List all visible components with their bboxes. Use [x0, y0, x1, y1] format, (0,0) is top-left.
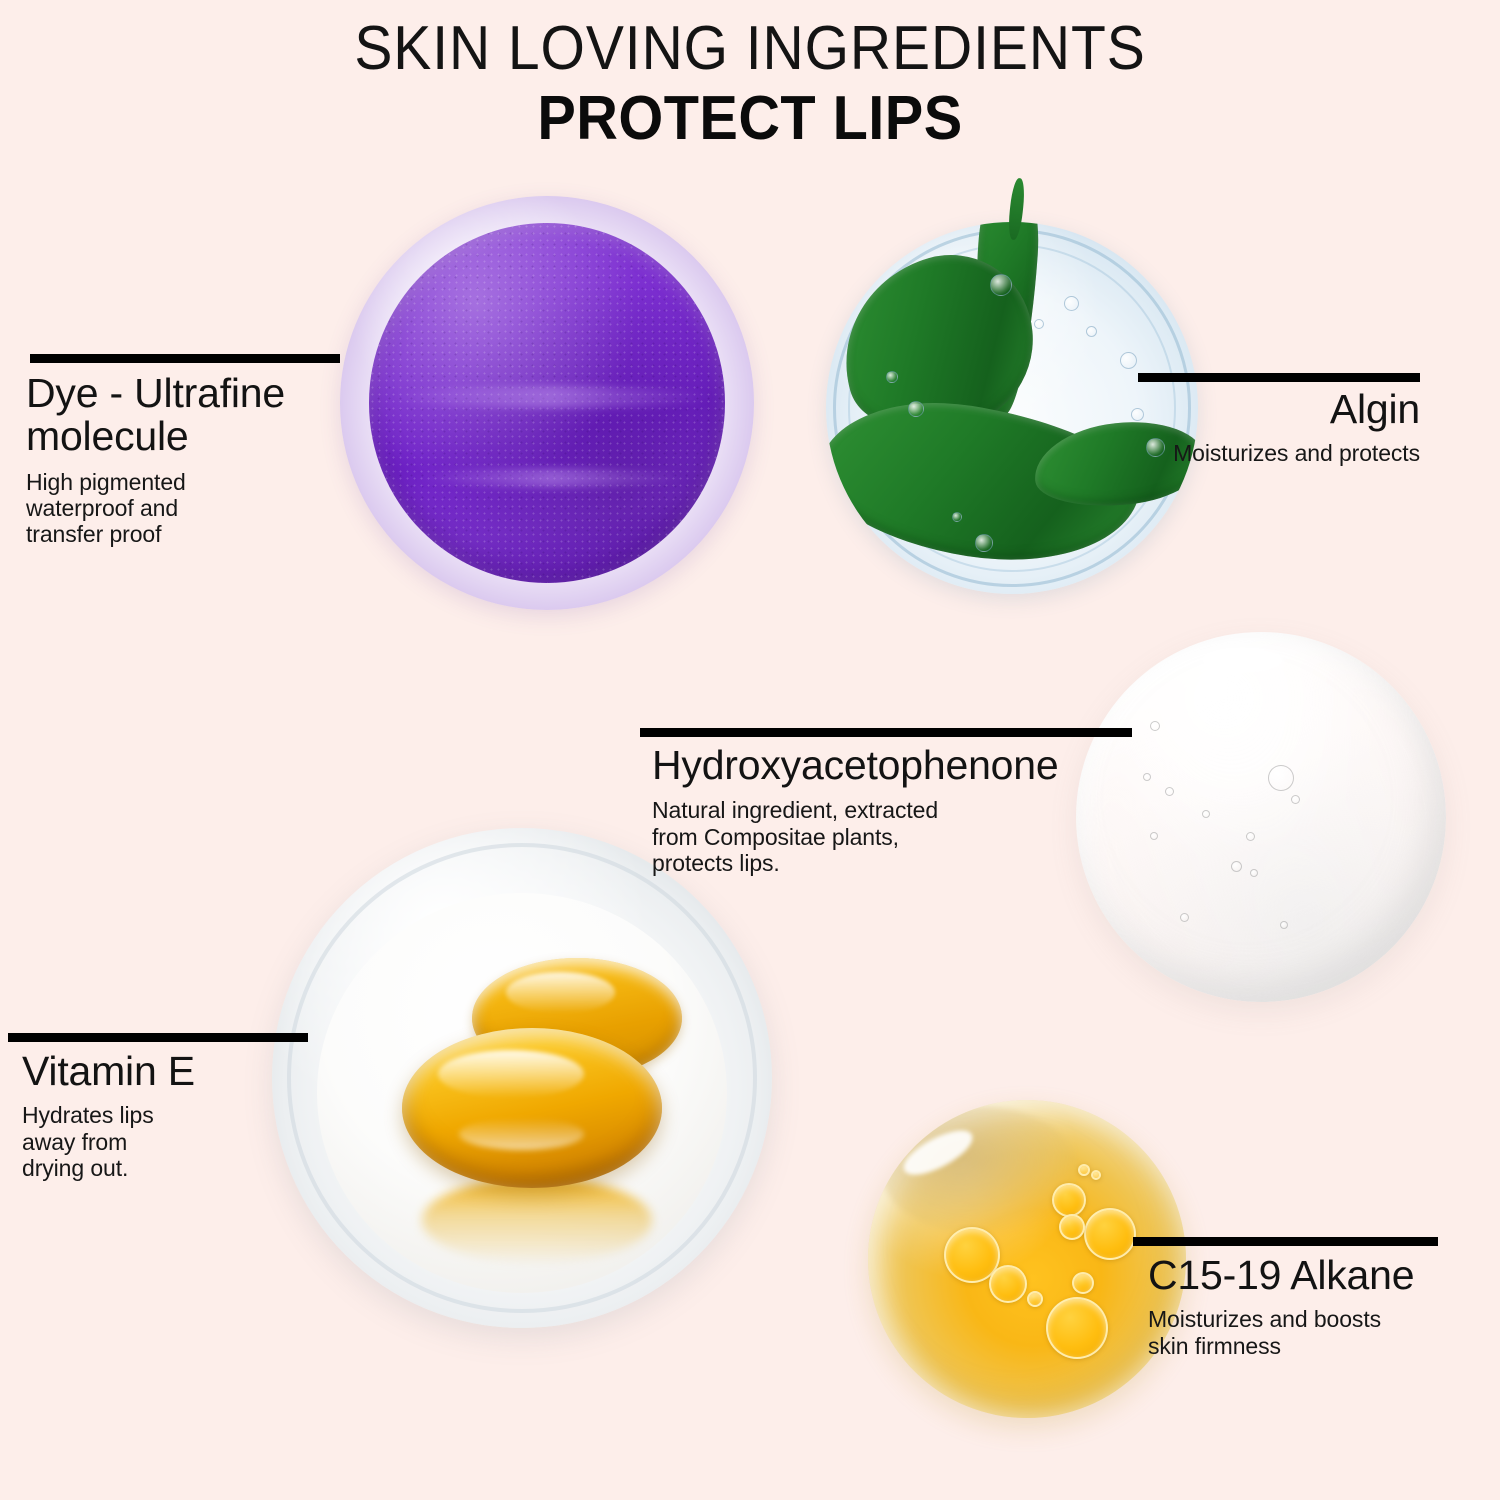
- leader-line-vitamin-e: [8, 1033, 308, 1042]
- page-title: SKIN LOVING INGREDIENTS PROTECT LIPS: [0, 18, 1500, 151]
- oil-bubble: [1078, 1164, 1090, 1176]
- capsule-reflection: [422, 1178, 652, 1263]
- gel-bubble: [1268, 765, 1294, 791]
- gel-bubble: [1180, 913, 1189, 922]
- label-dye-title: Dye - Ultrafine molecule: [26, 372, 338, 459]
- leader-line-c15-19-alkane: [1133, 1237, 1438, 1246]
- oil-bubble: [1027, 1291, 1043, 1307]
- oil-bubble: [1091, 1170, 1101, 1180]
- label-hydroxyacetophenone: Hydroxyacetophenone Natural ingredient, …: [652, 744, 1172, 876]
- oil-bubble: [989, 1265, 1027, 1303]
- leader-line-hydroxyacetophenone: [640, 728, 1132, 737]
- label-dye: Dye - Ultrafine molecule High pigmented …: [26, 372, 338, 548]
- water-bubble: [886, 371, 898, 383]
- vitamin-e-capsules-image: [272, 828, 772, 1328]
- title-line-2: PROTECT LIPS: [53, 86, 1448, 151]
- capsule-gloss: [506, 972, 615, 1013]
- oil-bubble: [1072, 1272, 1094, 1294]
- capsule-lower: [402, 1028, 662, 1188]
- leader-line-dye: [30, 354, 340, 363]
- label-algin-description: Moisturizes and protects: [1060, 440, 1420, 466]
- label-vitamin-e: Vitamin E Hydrates lips away from drying…: [22, 1050, 322, 1181]
- oil-bubble: [1084, 1208, 1136, 1260]
- gel-bubble: [1202, 810, 1210, 818]
- label-c15-19-alkane-description: Moisturizes and boosts skin firmness: [1148, 1306, 1418, 1358]
- amber-oil-droplet-image: [868, 1100, 1186, 1418]
- label-vitamin-e-description: Hydrates lips away from drying out.: [22, 1102, 182, 1181]
- gel-bubble: [1250, 869, 1258, 877]
- label-algin-title: Algin: [1060, 388, 1420, 431]
- capsule-gloss-secondary: [459, 1118, 584, 1150]
- leader-line-algin: [1138, 373, 1420, 382]
- label-c15-19-alkane-title: C15-19 Alkane: [1148, 1254, 1488, 1297]
- gel-bubble: [1291, 795, 1300, 804]
- label-algin: Algin Moisturizes and protects: [1060, 388, 1420, 467]
- water-bubble: [908, 401, 924, 417]
- water-bubble: [990, 274, 1012, 296]
- gel-bubble: [1246, 832, 1255, 841]
- ingredient-infographic: SKIN LOVING INGREDIENTS PROTECT LIPS Dye…: [0, 0, 1500, 1500]
- gel-bubble: [1280, 921, 1288, 929]
- label-hydroxyacetophenone-title: Hydroxyacetophenone: [652, 744, 1172, 787]
- capsule-gloss: [438, 1050, 584, 1098]
- water-bubble: [1120, 352, 1137, 369]
- water-bubble: [1034, 319, 1044, 329]
- title-line-1: SKIN LOVING INGREDIENTS: [60, 18, 1440, 80]
- gel-bubble: [1150, 721, 1160, 731]
- purple-powder-dish-image: [340, 196, 754, 610]
- gel-bubble: [1231, 861, 1242, 872]
- label-vitamin-e-title: Vitamin E: [22, 1050, 322, 1093]
- oil-bubble: [1046, 1297, 1108, 1359]
- label-hydroxyacetophenone-description: Natural ingredient, extracted from Compo…: [652, 797, 952, 876]
- label-c15-19-alkane: C15-19 Alkane Moisturizes and boosts ski…: [1148, 1254, 1488, 1359]
- droplet-highlight: [1202, 647, 1283, 673]
- oil-bubble: [1052, 1183, 1086, 1217]
- label-dye-description: High pigmented waterproof and transfer p…: [26, 469, 226, 548]
